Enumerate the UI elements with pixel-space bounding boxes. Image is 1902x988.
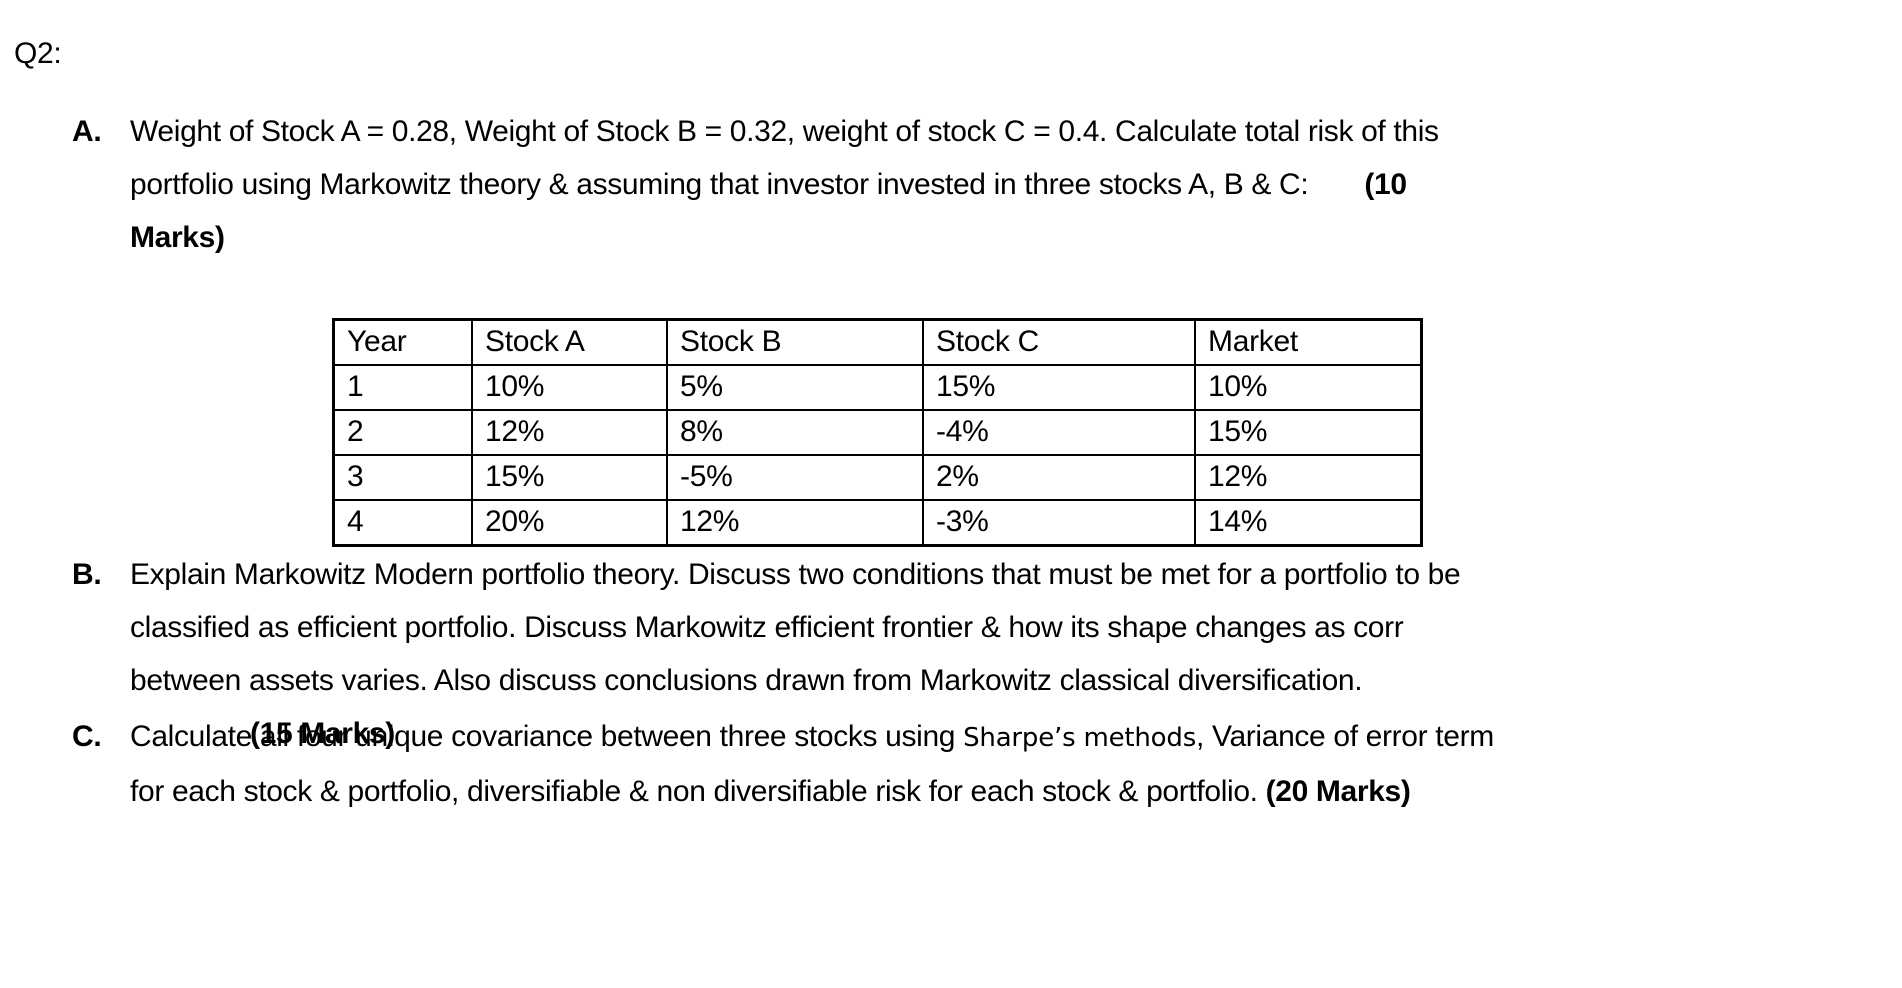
question-item-c: C. Calculate all four unique covariance … [72, 710, 1902, 818]
cell-year-1: 1 [334, 365, 473, 410]
item-a-line-1: Weight of Stock A = 0.28, Weight of Stoc… [130, 105, 1872, 158]
item-b-line-3: between assets varies. Also discuss conc… [130, 654, 1902, 707]
cell-stock-a-3: 15% [472, 455, 667, 500]
item-a-letter: A. [72, 105, 130, 158]
item-c-line-1: Calculate all four unique covariance bet… [130, 710, 1902, 765]
item-a-line-2: portfolio using Markowitz theory & assum… [130, 158, 1872, 211]
cell-stock-a-2: 12% [472, 410, 667, 455]
item-a-marks-tail: Marks) [130, 221, 225, 254]
item-c-body: Calculate all four unique covariance bet… [130, 710, 1902, 818]
cell-stock-c-4: -3% [923, 500, 1195, 546]
item-b-line-1: Explain Markowitz Modern portfolio theor… [130, 548, 1902, 601]
document-page: Q2: A. Weight of Stock A = 0.28, Weight … [0, 0, 1902, 988]
item-c-line-1-part-b: , Variance of error term [1196, 720, 1494, 753]
cell-market-1: 10% [1195, 365, 1422, 410]
table-row: 4 20% 12% -3% 14% [334, 500, 1422, 546]
item-c-sharpe-phrase: Sharpe’s methods [963, 723, 1196, 753]
cell-year-3: 3 [334, 455, 473, 500]
question-item-a: A. Weight of Stock A = 0.28, Weight of S… [72, 105, 1872, 264]
item-a-body: Weight of Stock A = 0.28, Weight of Stoc… [130, 105, 1872, 264]
col-header-stock-c: Stock C [923, 320, 1195, 366]
item-c-marks: (20 Marks) [1266, 775, 1411, 808]
item-b-letter: B. [72, 548, 130, 601]
item-c-line-2: for each stock & portfolio, diversifiabl… [130, 765, 1902, 818]
cell-stock-b-3: -5% [667, 455, 923, 500]
question-heading: Q2: [14, 36, 61, 72]
cell-stock-a-4: 20% [472, 500, 667, 546]
col-header-stock-a: Stock A [472, 320, 667, 366]
cell-year-2: 2 [334, 410, 473, 455]
table-row: 2 12% 8% -4% 15% [334, 410, 1422, 455]
returns-table: Year Stock A Stock B Stock C Market 1 10… [332, 318, 1423, 547]
item-b-line-2: classified as efficient portfolio. Discu… [130, 601, 1902, 654]
cell-stock-b-1: 5% [667, 365, 923, 410]
item-c-line-1-part-a: Calculate all four unique covariance bet… [130, 720, 963, 753]
cell-year-4: 4 [334, 500, 473, 546]
cell-stock-c-2: -4% [923, 410, 1195, 455]
item-a-line-3: Marks) [130, 211, 1872, 264]
col-header-market: Market [1195, 320, 1422, 366]
cell-stock-c-3: 2% [923, 455, 1195, 500]
cell-stock-b-2: 8% [667, 410, 923, 455]
table-row: 1 10% 5% 15% 10% [334, 365, 1422, 410]
item-c-line-2-text: for each stock & portfolio, diversifiabl… [130, 775, 1266, 808]
col-header-year: Year [334, 320, 473, 366]
item-c-letter: C. [72, 710, 130, 763]
returns-table-container: Year Stock A Stock B Stock C Market 1 10… [332, 318, 1423, 547]
cell-market-4: 14% [1195, 500, 1422, 546]
cell-market-2: 15% [1195, 410, 1422, 455]
col-header-stock-b: Stock B [667, 320, 923, 366]
item-a-marks-inline: (10 [1364, 168, 1406, 201]
table-header-row: Year Stock A Stock B Stock C Market [334, 320, 1422, 366]
table-row: 3 15% -5% 2% 12% [334, 455, 1422, 500]
cell-stock-a-1: 10% [472, 365, 667, 410]
item-a-line-2-text: portfolio using Markowitz theory & assum… [130, 168, 1308, 201]
cell-stock-c-1: 15% [923, 365, 1195, 410]
cell-stock-b-4: 12% [667, 500, 923, 546]
cell-market-3: 12% [1195, 455, 1422, 500]
